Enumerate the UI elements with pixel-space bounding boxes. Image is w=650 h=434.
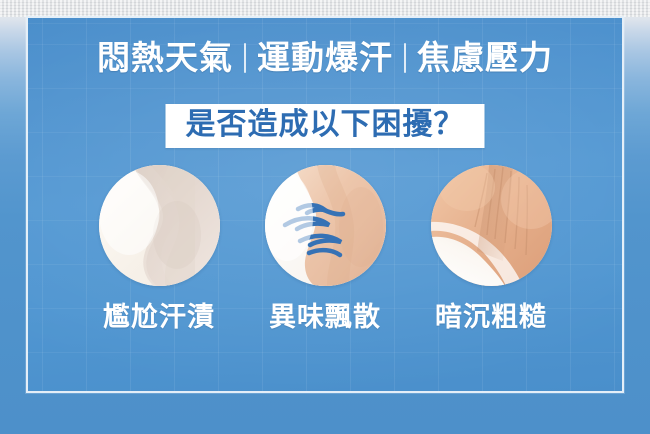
underarm-odor-waves-icon <box>265 165 386 286</box>
odor-circle <box>265 165 386 286</box>
sweat-stain-circle <box>99 165 220 286</box>
problem-items: 尷尬汗漬 <box>0 165 650 331</box>
problem-item-odor: 異味飄散 <box>265 165 386 331</box>
banner-content: 悶熱天氣 運動爆汗 焦慮壓力 是否造成以下困擾？ <box>0 0 650 434</box>
problem-item-label-3: 暗沉粗糙 <box>435 304 547 331</box>
problem-item-label-2: 異味飄散 <box>269 304 381 331</box>
subheadline-box: 是否造成以下困擾？ <box>166 104 485 148</box>
underarm-dark-rough-skin-icon <box>431 165 552 286</box>
problem-item-dark-rough: 暗沉粗糙 <box>431 165 552 331</box>
promo-banner: 悶熱天氣 運動爆汗 焦慮壓力 是否造成以下困擾？ <box>0 0 650 434</box>
headline-separator-1 <box>244 43 246 73</box>
headline-segment-1: 悶熱天氣 <box>97 41 233 74</box>
headline: 悶熱天氣 運動爆汗 焦慮壓力 <box>0 41 650 74</box>
underarm-sweat-stain-icon <box>99 165 220 286</box>
headline-segment-3: 焦慮壓力 <box>417 41 553 74</box>
problem-item-label-1: 尷尬汗漬 <box>103 304 215 331</box>
dark-rough-circle <box>431 165 552 286</box>
headline-separator-2 <box>404 43 406 73</box>
subheadline-text: 是否造成以下困擾？ <box>186 110 465 140</box>
headline-segment-2: 運動爆汗 <box>257 41 393 74</box>
problem-item-sweat-stain: 尷尬汗漬 <box>99 165 220 331</box>
